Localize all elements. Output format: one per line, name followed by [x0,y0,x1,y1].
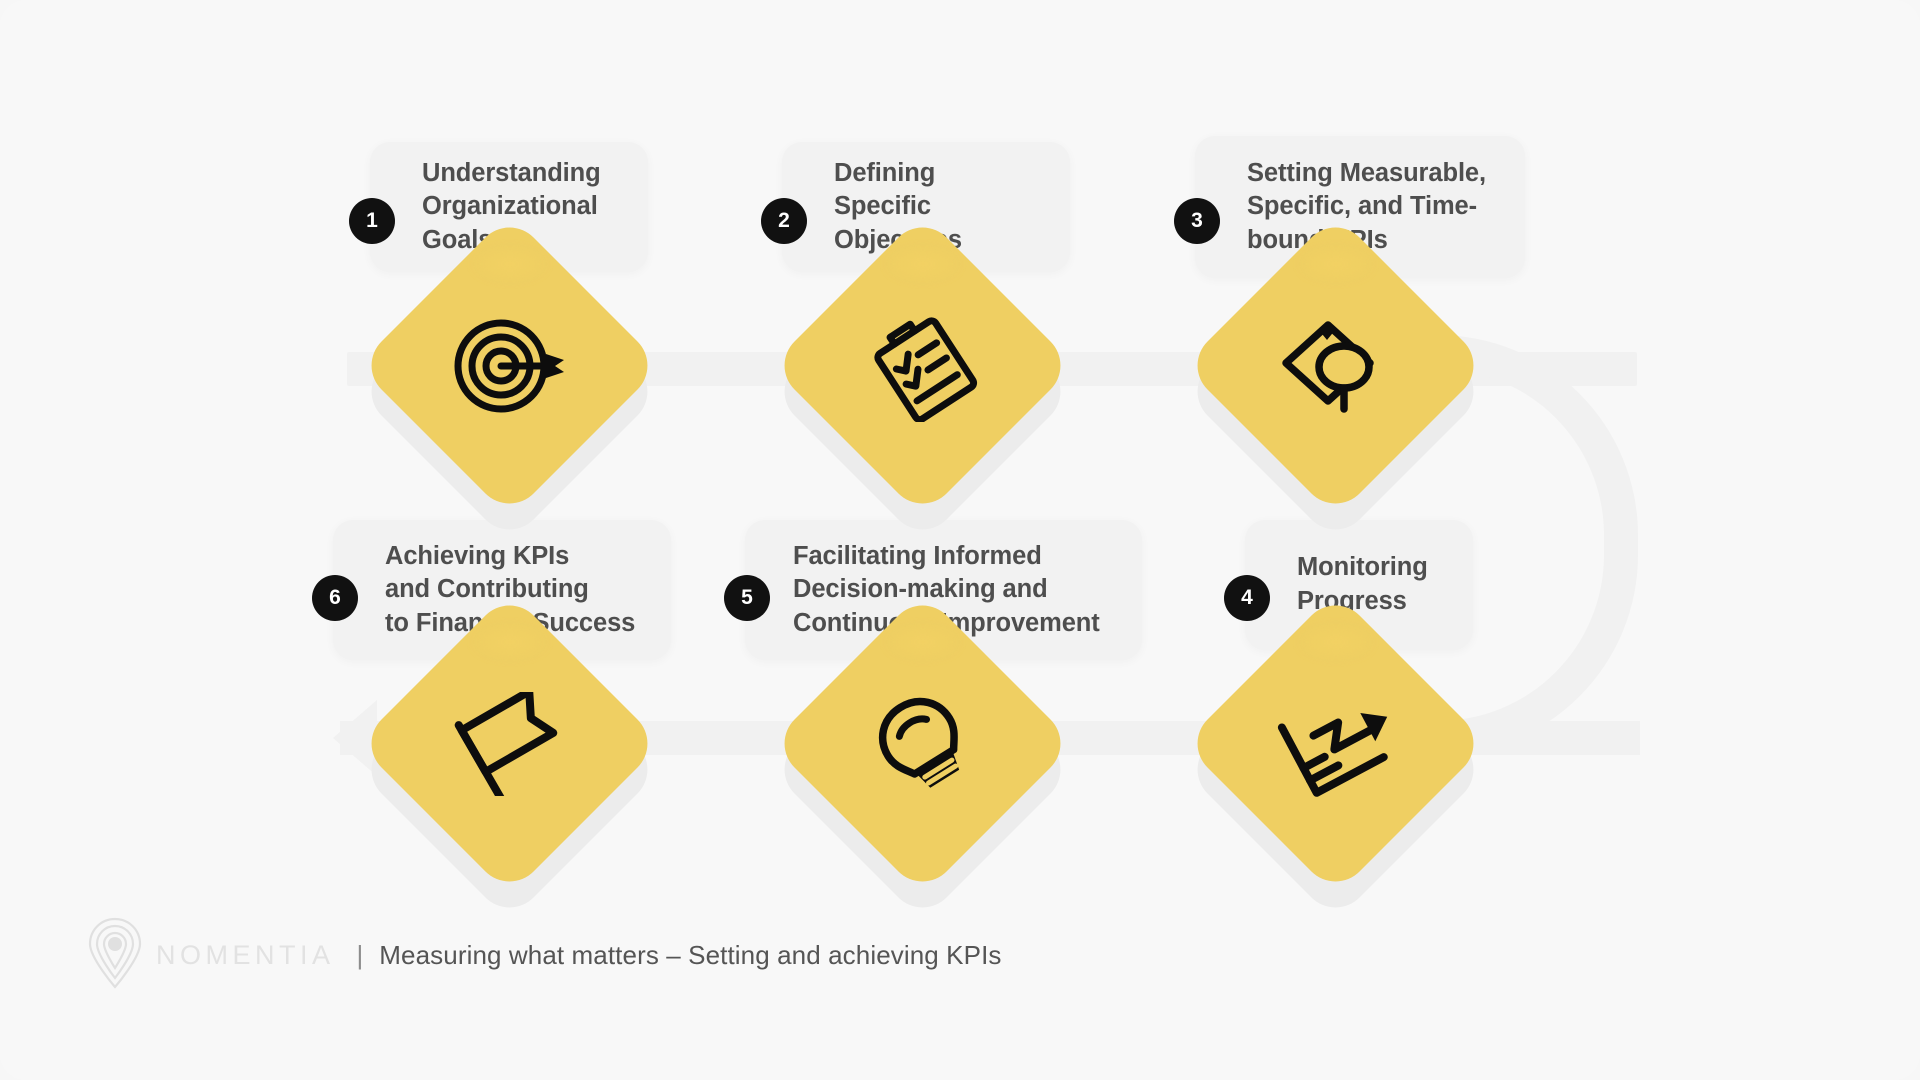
step-2-badge: 2 [761,198,807,244]
step-6-icon-tile[interactable] [402,636,617,851]
step-4-badge: 4 [1224,575,1270,621]
footer: NOMENTIA | Measuring what matters – Sett… [88,917,1002,994]
flag-icon [402,636,617,851]
nomentia-pin-logo-icon [88,917,142,994]
eye-magnifier-icon [1228,258,1443,473]
step-4-title: Monitoring Progress [1297,551,1428,618]
step-1-badge: 1 [349,198,395,244]
step-3-icon-tile[interactable] [1228,258,1443,473]
step-3-title: Setting Measurable, Specific, and Time- … [1247,157,1486,258]
footer-separator: | [357,940,364,971]
step-5-icon-tile[interactable] [815,636,1030,851]
step-2-icon-tile[interactable] [815,258,1030,473]
step-1-icon-tile[interactable] [402,258,617,473]
target-icon [402,258,617,473]
step-6-badge: 6 [312,575,358,621]
step-4-icon-tile[interactable] [1228,636,1443,851]
infographic-canvas: Understanding Organizational Goals 1 [0,0,1920,1080]
checklist-clipboard-icon [815,258,1030,473]
footer-caption: Measuring what matters – Setting and ach… [379,940,1001,971]
chart-arrow-icon [1228,636,1443,851]
lightbulb-icon [815,636,1030,851]
step-5-badge: 5 [724,575,770,621]
brand-name: NOMENTIA [156,940,335,971]
step-3-badge: 3 [1174,198,1220,244]
